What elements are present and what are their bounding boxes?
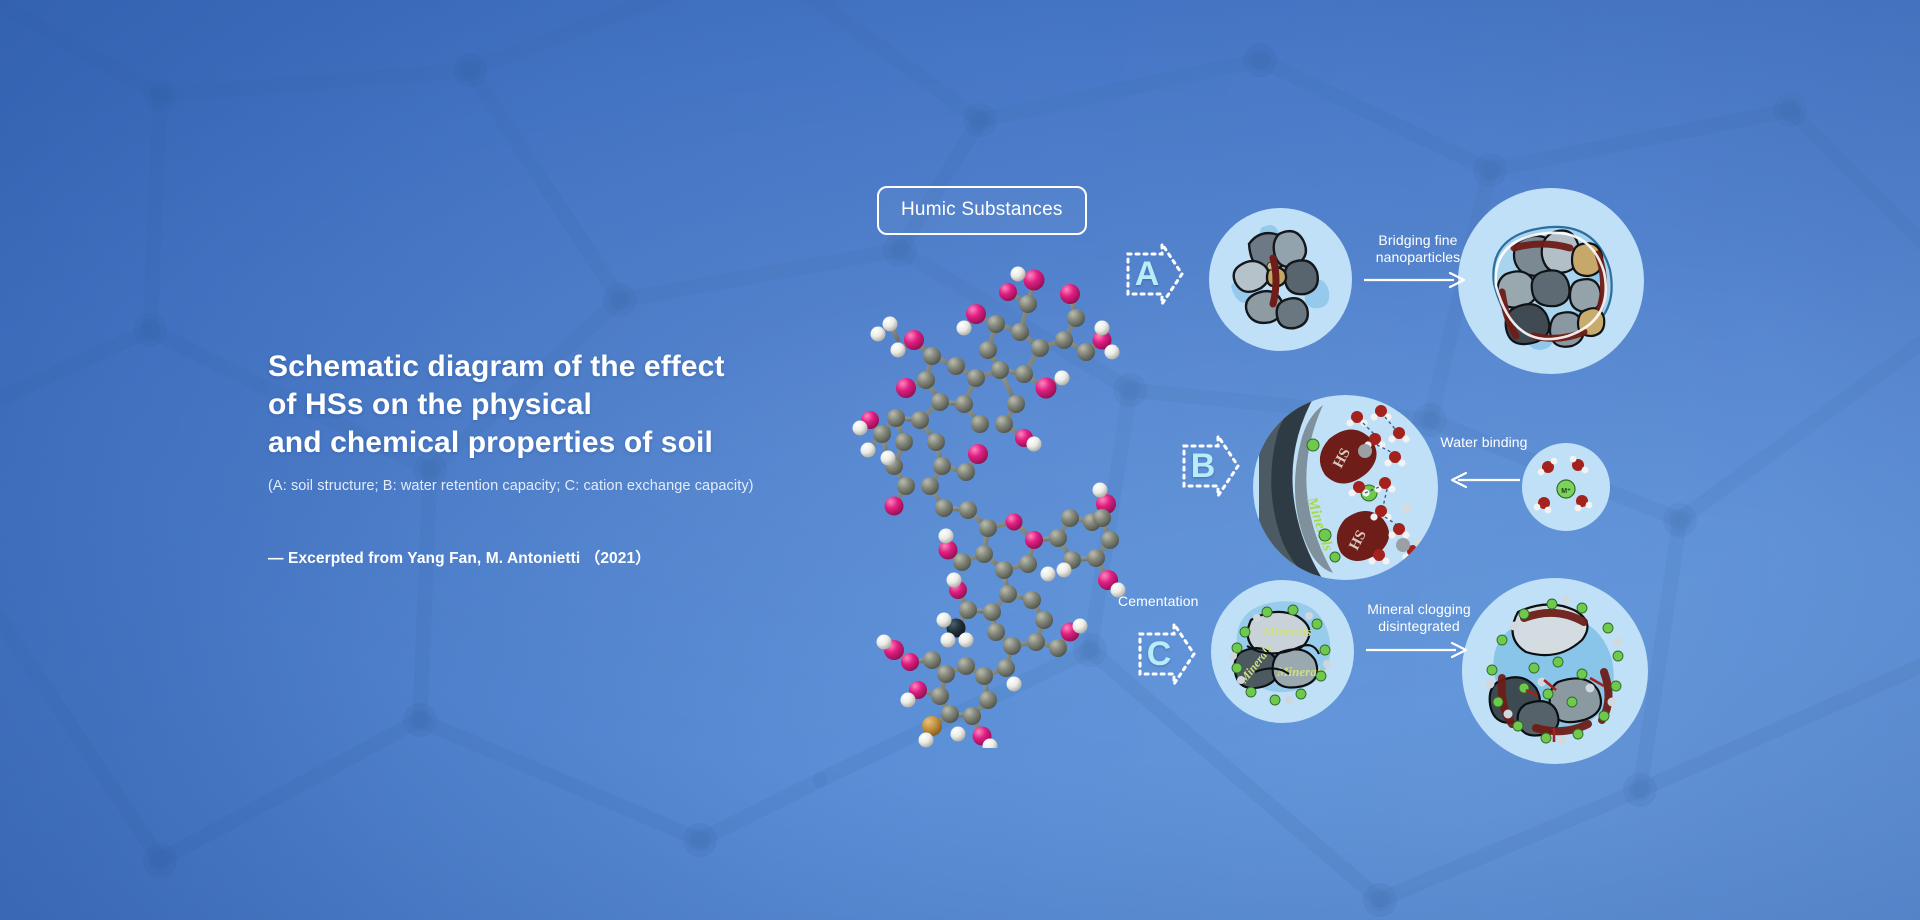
node-hydrated-cation-cluster: M⁺ bbox=[1522, 443, 1610, 531]
stage-badge-c-letter: C bbox=[1136, 620, 1182, 688]
stage-badge-c: C bbox=[1136, 620, 1198, 688]
connector-label-a: Bridging fine nanoparticles bbox=[1355, 232, 1481, 266]
cementation-label: Cementation bbox=[1118, 593, 1238, 610]
node-mineral-hs-water-interface: Minerals HS HS bbox=[1253, 395, 1438, 580]
page-title: Schematic diagram of the effect of HSs o… bbox=[268, 348, 908, 462]
connector-arrow-a bbox=[1364, 268, 1468, 292]
poster-stage: Schematic diagram of the effect of HSs o… bbox=[0, 0, 1920, 920]
title-block: Schematic diagram of the effect of HSs o… bbox=[268, 348, 908, 568]
connector-label-b: Water binding bbox=[1420, 434, 1548, 451]
page-title-line-2: of HSs on the physical bbox=[268, 388, 592, 421]
page-title-line-1: Schematic diagram of the effect bbox=[268, 350, 725, 383]
connector-arrow-b bbox=[1448, 468, 1520, 492]
humic-substances-label-text: Humic Substances bbox=[901, 199, 1063, 220]
node-c1-minerals-label-1: Minerals bbox=[1262, 624, 1311, 639]
subtitle-caption: (A: soil structure; B: water retention c… bbox=[268, 476, 908, 496]
connector-arrow-c bbox=[1366, 638, 1470, 662]
stage-badge-a-letter: A bbox=[1124, 240, 1170, 308]
stage-badge-b: B bbox=[1180, 432, 1242, 500]
node-b2-cation-symbol: M⁺ bbox=[1561, 488, 1571, 495]
stage-badge-b-letter: B bbox=[1180, 432, 1226, 500]
node-loose-soil-particles bbox=[1209, 208, 1352, 351]
attribution-text: — Excerpted from Yang Fan, M. Antonietti… bbox=[268, 546, 908, 568]
connector-label-c: Mineral clogging disintegrated bbox=[1348, 601, 1490, 635]
page-title-line-3: and chemical properties of soil bbox=[268, 426, 713, 459]
stage-badge-a: A bbox=[1124, 240, 1186, 308]
node-aggregated-soil-particles bbox=[1458, 188, 1644, 374]
